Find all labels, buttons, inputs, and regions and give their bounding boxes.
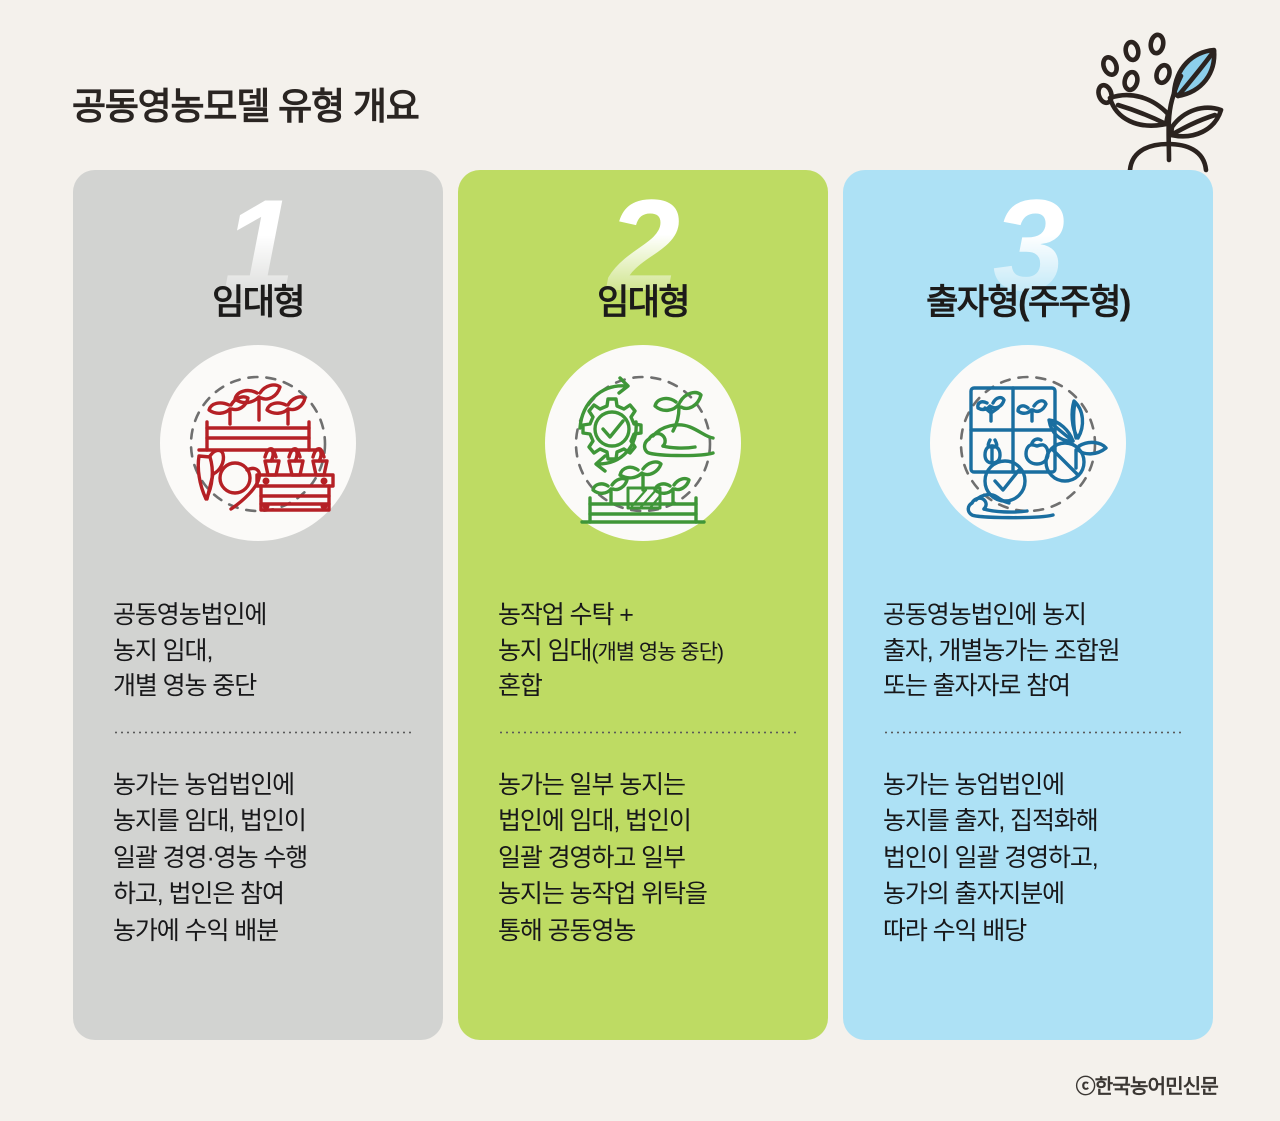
model-card-2[interactable]: 2 임대형 [458, 170, 828, 1040]
crop-grid-hand-check-blue-icon [930, 345, 1126, 541]
copyright-credit: ⓒ한국농어민신문 [1076, 1070, 1218, 1099]
card2-desc-line3: 혼합 [498, 672, 542, 700]
card-detail-3: 농가는 농업법인에 농지를 출자, 집적화해 법인이 일괄 경영하고, 농가의 … [883, 767, 1185, 950]
card-divider-3 [883, 731, 1185, 734]
card-divider-1 [113, 731, 415, 734]
model-card-1[interactable]: 1 임대형 [73, 170, 443, 1040]
card2-desc-line2-main: 농지 임대 [498, 637, 591, 665]
card-title-3: 출자형(주주형) [843, 274, 1213, 325]
card-title-2: 임대형 [458, 274, 828, 325]
card2-desc-line1: 농작업 수탁 + [498, 601, 633, 629]
card-description-3: 공동영농법인에 농지 출자, 개별농가는 조합원 또는 출자자로 참여 [883, 598, 1185, 705]
planter-crops-red-icon [160, 345, 356, 541]
card-body-3: 공동영농법인에 농지 출자, 개별농가는 조합원 또는 출자자로 참여 농가는 … [883, 598, 1185, 949]
model-card-3[interactable]: 3 출자형(주주형) [843, 170, 1213, 1040]
card-description-1: 공동영농법인에 농지 임대, 개별 영농 중단 [113, 598, 415, 705]
card-title-1: 임대형 [73, 274, 443, 325]
model-type-cards: 1 임대형 [73, 170, 1213, 1040]
card-body-1: 공동영농법인에 농지 임대, 개별 영농 중단 농가는 농업법인에 농지를 임대… [113, 598, 415, 949]
card2-desc-line2-paren: (개별 영농 중단) [591, 641, 723, 664]
card-description-2: 농작업 수탁 +농지 임대(개별 영농 중단)혼합 [498, 598, 800, 705]
card-detail-1: 농가는 농업법인에 농지를 임대, 법인이 일괄 경영·영농 수행 하고, 법인… [113, 767, 415, 950]
sprout-plant-icon [1068, 18, 1228, 173]
card-body-2: 농작업 수탁 +농지 임대(개별 영농 중단)혼합 농가는 일부 농지는 법인에… [498, 598, 800, 949]
card-detail-2: 농가는 일부 농지는 법인에 임대, 법인이 일괄 경영하고 일부 농지는 농작… [498, 767, 800, 950]
card-divider-2 [498, 731, 800, 734]
gear-hand-sprout-green-icon [545, 345, 741, 541]
page-title: 공동영농모델 유형 개요 [72, 76, 419, 130]
